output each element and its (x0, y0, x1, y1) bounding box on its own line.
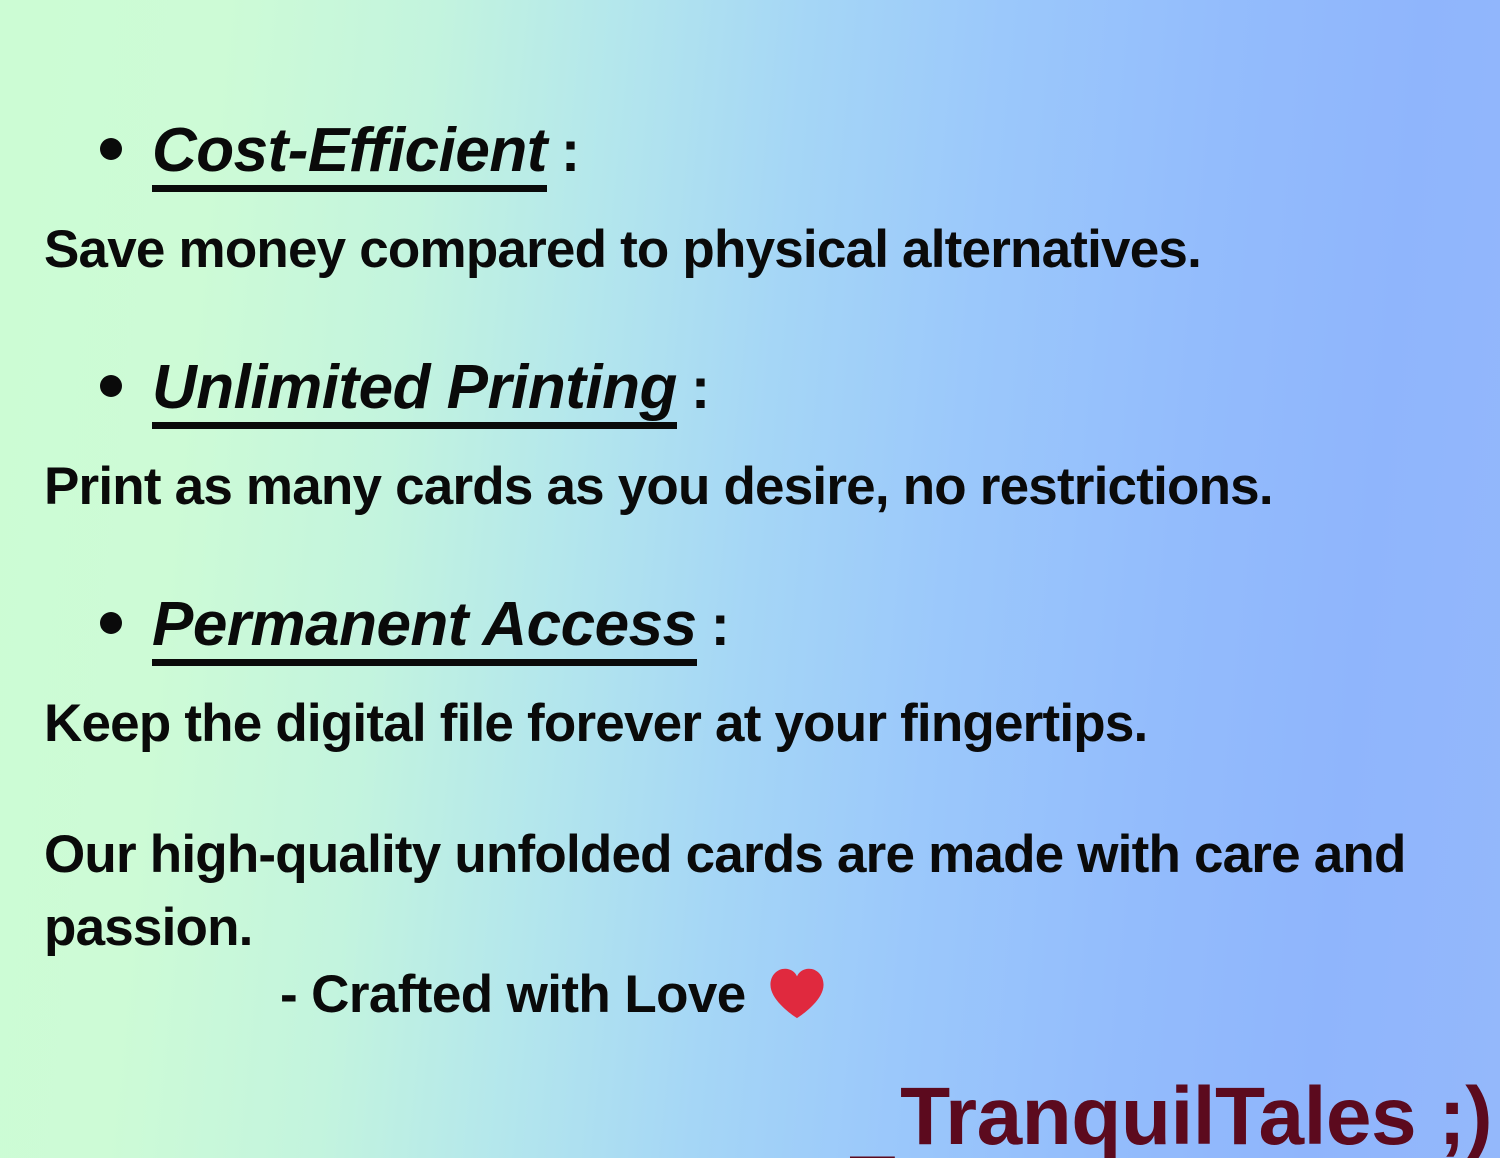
poster-canvas: Cost-Efficient : Save money compared to … (0, 0, 1500, 1158)
bullet-heading: Unlimited Printing : (0, 355, 1500, 429)
bullet-description: Keep the digital file forever at your fi… (0, 694, 1500, 753)
signature-underscore: _ (851, 1084, 894, 1158)
crafted-with-love-line: - Crafted with Love (0, 965, 1500, 1026)
bullet-term: Cost-Efficient (152, 118, 547, 192)
bullet-dot-icon (100, 375, 122, 397)
bullet-heading: Permanent Access : (0, 592, 1500, 666)
crafted-label: - Crafted with Love (280, 966, 746, 1024)
signature-block: _ TranquilTales ;) (851, 1069, 1492, 1158)
bullet-colon: : (691, 355, 710, 422)
closing-paragraph: Our high-quality unfolded cards are made… (0, 818, 1430, 964)
signature-name: TranquilTales ;) (900, 1069, 1492, 1158)
bullet-colon: : (561, 118, 580, 185)
bullet-term: Permanent Access (152, 592, 697, 666)
bullet-description: Save money compared to physical alternat… (0, 220, 1500, 279)
bullet-dot-icon (100, 612, 122, 634)
bullet-dot-icon (100, 138, 122, 160)
bullet-item-cost-efficient: Cost-Efficient : Save money compared to … (0, 118, 1500, 279)
bullet-description: Print as many cards as you desire, no re… (0, 457, 1500, 516)
bullet-term: Unlimited Printing (152, 355, 677, 429)
heart-icon (768, 967, 826, 1028)
bullet-item-permanent-access: Permanent Access : Keep the digital file… (0, 592, 1500, 753)
bullet-colon: : (711, 592, 730, 659)
bullet-heading: Cost-Efficient : (0, 118, 1500, 192)
bullet-item-unlimited-printing: Unlimited Printing : Print as many cards… (0, 355, 1500, 516)
